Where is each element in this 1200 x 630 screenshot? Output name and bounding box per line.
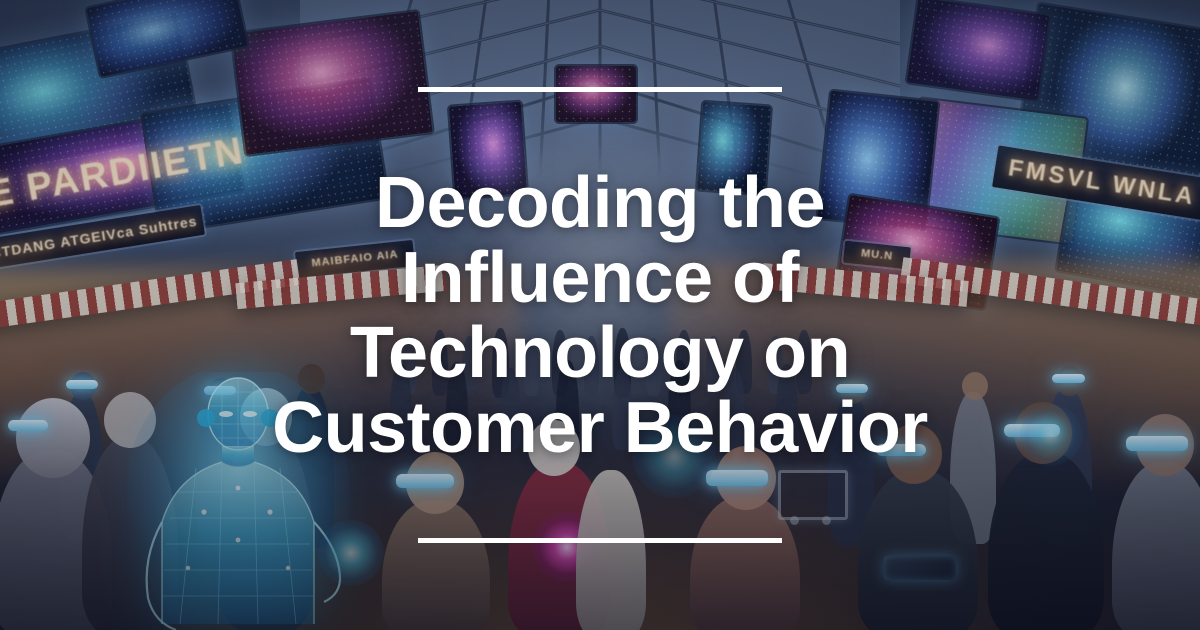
title-line-2: Influence of	[272, 241, 928, 316]
title-divider-top	[418, 87, 782, 92]
page-title: Decoding the Influence of Technology on …	[272, 166, 928, 466]
title-divider-bottom	[418, 538, 782, 543]
title-line-1: Decoding the	[272, 166, 928, 241]
hero-title-block: Decoding the Influence of Technology on …	[0, 0, 1200, 630]
title-line-3: Technology on	[272, 316, 928, 391]
article-hero-banner: E PARDIIETN CTDANG ATGEIVca Suhtres MAIB…	[0, 0, 1200, 630]
title-line-4: Customer Behavior	[272, 391, 928, 466]
